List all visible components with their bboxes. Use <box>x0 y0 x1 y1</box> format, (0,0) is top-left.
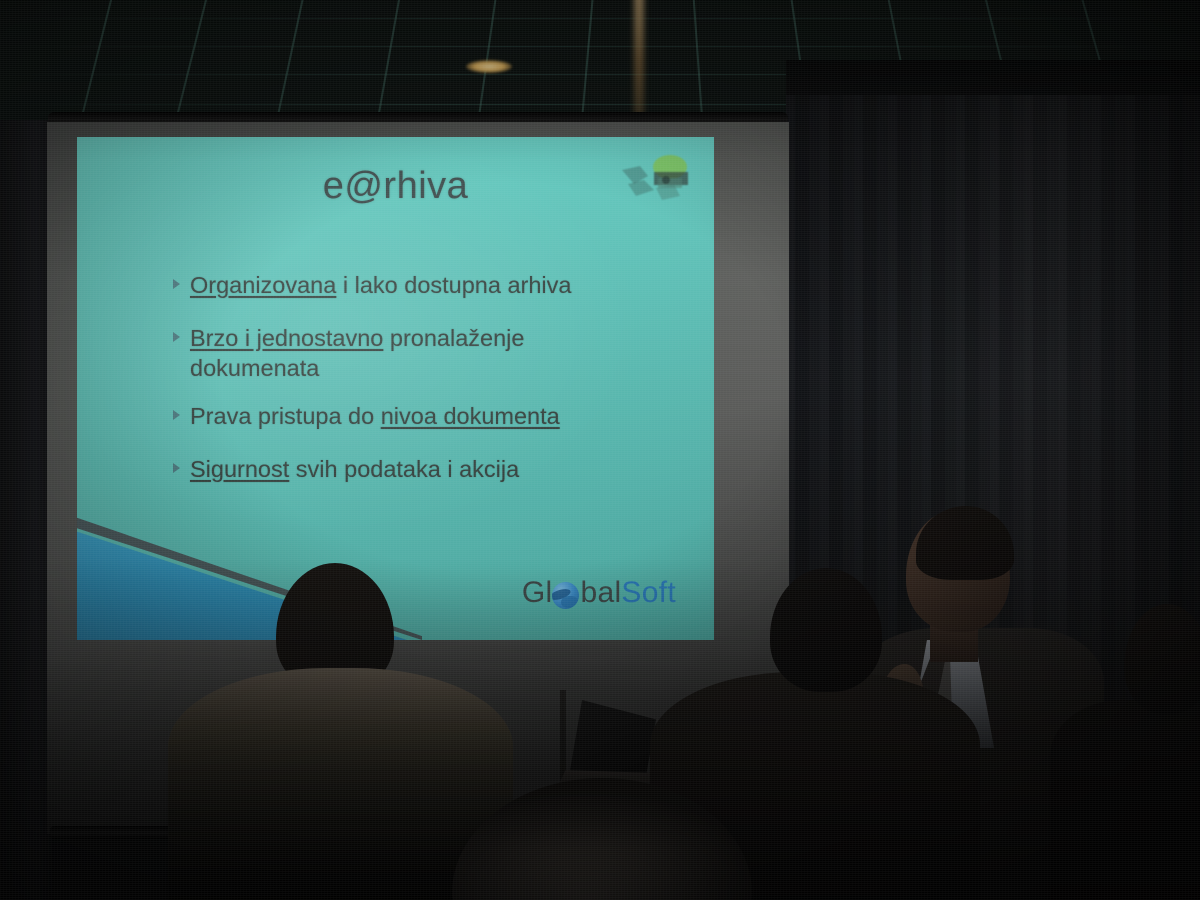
bullet-marker-icon <box>173 279 180 289</box>
bullet-1-text: i lako dostupna arhiva <box>336 272 571 298</box>
bullet-item-1: Organizovana i lako dostupna arhiva <box>173 270 713 300</box>
bullet-1-emphasis: Organizovana <box>190 272 336 298</box>
globalsoft-logo: Gl bal Soft <box>522 576 676 610</box>
logo-text-part-a: Gl <box>522 576 553 610</box>
logo-text-part-c: Soft <box>621 576 676 610</box>
bullet-4-text: svih podataka i akcija <box>289 456 519 482</box>
bullet-2-wrap: dokumenata <box>190 355 319 381</box>
bullet-marker-icon <box>173 463 180 473</box>
bullet-2-emphasis: Brzo i jednostavno <box>190 325 383 351</box>
ceiling-light-icon <box>466 60 512 73</box>
presentation-photo-scene: e@rhiva Organizovana i lako dostupna arh… <box>0 0 1200 900</box>
projected-slide: e@rhiva Organizovana i lako dostupna arh… <box>77 137 714 640</box>
attendee-far-right-body <box>1050 700 1200 900</box>
bullet-3-text: Prava pristupa do <box>190 403 381 429</box>
corner-logo-icon <box>614 150 692 208</box>
left-wall <box>0 120 52 900</box>
bullet-4-emphasis: Sigurnost <box>190 456 289 482</box>
bullet-marker-icon <box>173 410 180 420</box>
globe-icon <box>552 582 579 609</box>
slide-bullet-list: Organizovana i lako dostupna arhiva Brzo… <box>173 270 713 507</box>
bullet-item-3: Prava pristupa do nivoa dokumenta <box>173 401 713 431</box>
bullet-item-4: Sigurnost svih podataka i akcija <box>173 454 713 484</box>
bullet-item-2: Brzo i jednostavno pronalaženje dokumena… <box>173 323 713 383</box>
bullet-3-emphasis: nivoa dokumenta <box>381 403 560 429</box>
bullet-2-text: pronalaženje <box>383 325 524 351</box>
logo-text-part-b: bal <box>580 576 621 610</box>
bullet-marker-icon <box>173 332 180 342</box>
